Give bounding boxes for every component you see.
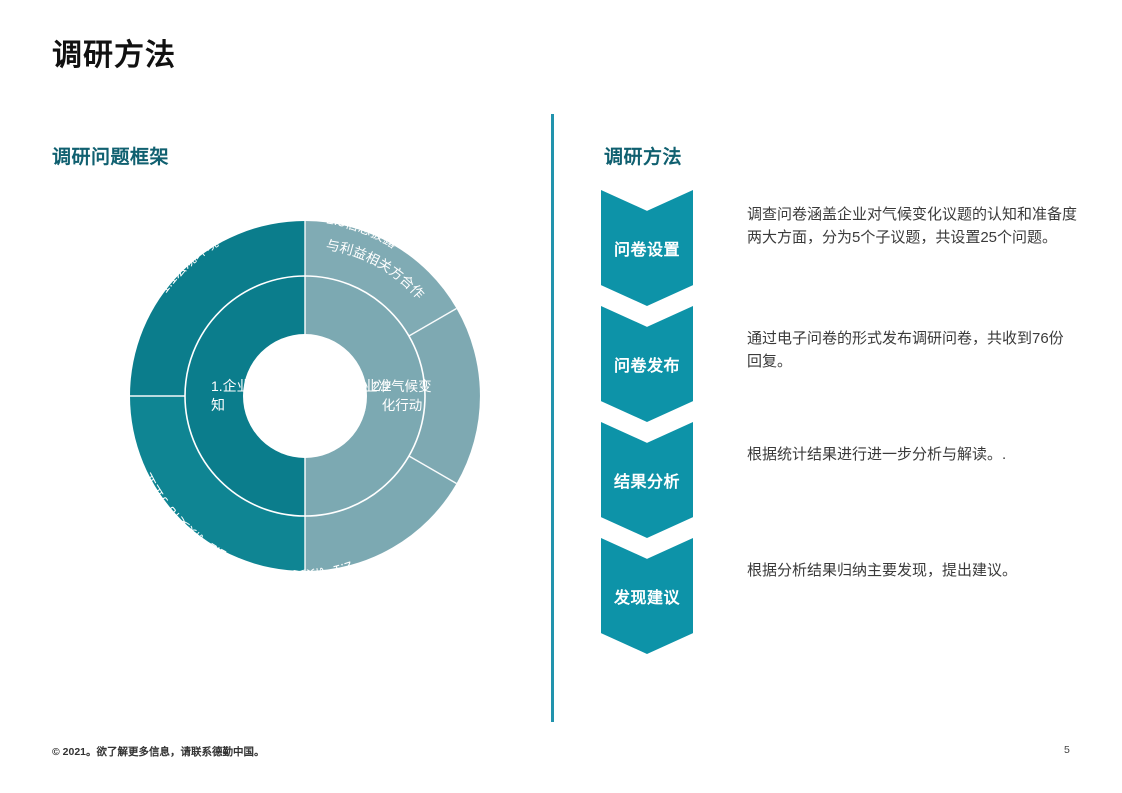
process-step-label-3[interactable]: 结果分析	[601, 422, 693, 538]
process-step-label-1[interactable]: 问卷设置	[601, 190, 693, 306]
vertical-divider	[551, 114, 554, 722]
donut-svg: 1.1宏观环境 1.2气候变化与企业 2.1气候变化战略 2.3信息披露 与利益…	[95, 186, 515, 606]
inner-label-2-line2: 备度	[338, 397, 366, 413]
process-step-text-3: 根据统计结果进行进一步分析与解读。.	[747, 444, 1077, 467]
left-panel-heading: 调研问题框架	[52, 142, 169, 169]
process-step-label-2[interactable]: 问卷发布	[601, 306, 693, 422]
process-step-text-1: 调查问卷涵盖企业对气候变化议题的认知和准备度两大方面，分为5个子议题，共设置25…	[747, 204, 1077, 249]
inner-label-1-line2: 知	[211, 397, 225, 413]
research-framework-donut-chart: 1.1宏观环境 1.2气候变化与企业 2.1气候变化战略 2.3信息披露 与利益…	[95, 186, 515, 606]
research-method-process: 问卷设置 调查问卷涵盖企业对气候变化议题的认知和准备度两大方面，分为5个子议题，…	[601, 190, 1081, 650]
footer-copyright: © 2021。欲了解更多信息，请联系德勤中国。	[52, 744, 265, 759]
page-number: 5	[1064, 744, 1070, 756]
page-title: 调研方法	[52, 30, 176, 74]
outer-label-2-2-line2: 化行动	[382, 398, 423, 413]
donut-hole	[243, 334, 367, 458]
process-step-text-2: 通过电子问卷的形式发布调研问卷，共收到76份回复。	[747, 328, 1077, 373]
inner-label-1-line1: 1.企业认	[211, 378, 265, 394]
inner-label-2-line1: 2.企业准	[338, 378, 392, 394]
process-step-text-4: 根据分析结果归纳主要发现，提出建议。	[747, 560, 1077, 583]
right-panel-heading: 调研方法	[604, 142, 682, 169]
process-step-label-4[interactable]: 发现建议	[601, 538, 693, 654]
